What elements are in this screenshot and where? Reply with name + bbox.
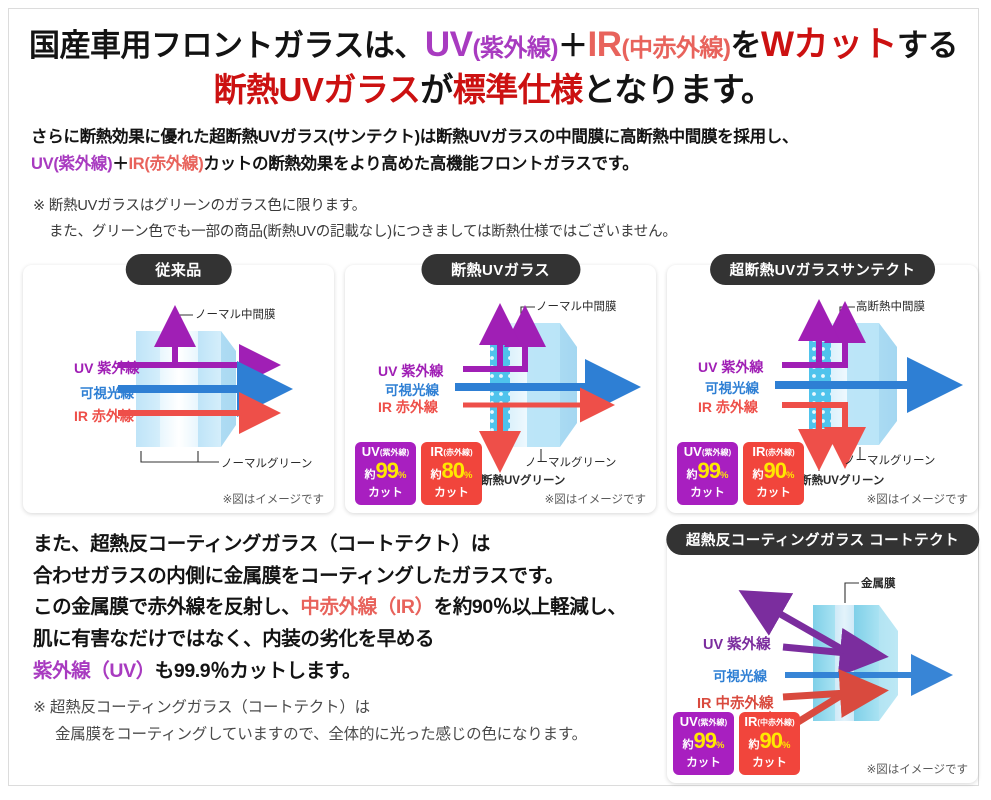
bottom-section: また、超熱反コーティングガラス（コートテクト）は 合わせガラスの内側に金属膜をコ… <box>9 523 978 793</box>
headline-plus: ＋ <box>558 30 588 63</box>
ray-label-ir-mid: IR 中赤外線 <box>697 692 774 713</box>
badge-uv: UV(紫外線) 約99% カット <box>355 442 416 505</box>
page-title: 国産車用フロントガラスは、UV(紫外線)＋IR(中赤外線)をWカットする 断熱U… <box>9 9 978 110</box>
subparagraph-line-2: UV(紫外線)＋IR(赤外線)カットの断熱効果をより高めた高機能フロントガラスで… <box>31 151 956 178</box>
label-normal-green: ノーマルグリーン <box>525 454 616 470</box>
subparagraph-plus: ＋ <box>112 155 128 173</box>
ray-label-ir: IR 赤外線 <box>74 406 134 426</box>
ray-label-uv: UV 紫外線 <box>703 633 771 654</box>
panel-conventional: 従来品 <box>23 265 334 513</box>
headline-ga: が <box>420 71 453 108</box>
headline-wcut: Wカット <box>761 25 897 64</box>
headline-tail: となります。 <box>583 71 774 108</box>
ray-label-visible: 可視光線 <box>80 382 134 402</box>
label-normal-green: ノーマルグリーン <box>221 455 312 471</box>
ray-label-ir: IR 赤外線 <box>378 397 438 417</box>
badge-ir: IR(赤外線) 約80% カット <box>421 442 482 505</box>
coattect-desc-line-2: 合わせガラスの内側に金属膜をコーティングしたガラスです。 <box>33 561 627 593</box>
badge-ir: IR(中赤外線) 約90% カット <box>739 712 800 775</box>
badge-group: UV(紫外線) 約99% カット IR(赤外線) 約80% カット <box>355 442 482 505</box>
headline-uv-paren: (紫外線) <box>473 35 558 62</box>
diagram-conventional: UV 紫外線 可視光線 IR 赤外線 ノーマル中間膜 ノーマルグリーン <box>23 265 334 513</box>
headline-standard: 標準仕様 <box>453 71 583 108</box>
badge-uv-foot: カット <box>673 757 734 770</box>
badge-ir-foot: カット <box>739 757 800 770</box>
coattect-description: また、超熱反コーティングガラス（コートテクト）は 合わせガラスの内側に金属膜をコ… <box>33 529 627 687</box>
top-note: ※ 断熱UVガラスはグリーンのガラス色に限ります。 また、グリーン色でも一部の商… <box>33 194 978 245</box>
label-normal-green: ノーマルグリーン <box>844 452 935 468</box>
ray-label-uv: UV 紫外線 <box>698 357 763 377</box>
top-note-line-1: ※ 断熱UVガラスはグリーンのガラス色に限ります。 <box>33 198 366 214</box>
headline-text-3: する <box>897 28 958 63</box>
headline-text-2: を <box>730 28 761 63</box>
headline-uv: UV <box>425 25 473 64</box>
headline-ir: IR <box>587 25 621 64</box>
subparagraph: さらに断熱効果に優れた超断熱UVガラス(サンテクト)は断熱UVガラスの中間膜に高… <box>31 124 956 178</box>
coattect-uv-highlight: 紫外線（UV） <box>33 660 155 682</box>
headline-line-2: 断熱UVガラスが標準仕様となります。 <box>9 69 978 110</box>
badge-group: UV(紫外線) 約99% カット IR(赤外線) 約90% カット <box>677 442 804 505</box>
headline-product: 断熱UVガラス <box>214 71 421 108</box>
subparagraph-uv: UV(紫外線) <box>31 155 112 173</box>
image-note: ※図はイメージです <box>545 491 646 507</box>
badge-group: UV(紫外線) 約99% カット IR(中赤外線) 約90% カット <box>673 712 800 775</box>
ray-label-visible: 可視光線 <box>713 665 767 685</box>
label-uv-green: 断熱UVグリーン <box>800 472 884 488</box>
badge-ir-foot: カット <box>421 487 482 500</box>
coattect-desc-line-5: 紫外線（UV）も99.9％カットします。 <box>33 656 627 688</box>
coattect-desc-line-3: この金属膜で赤外線を反射し、中赤外線（IR）を約90％以上軽減し、 <box>33 592 627 624</box>
headline-line-1: 国産車用フロントガラスは、UV(紫外線)＋IR(中赤外線)をWカットする <box>9 23 978 67</box>
badge-uv: UV(紫外線) 約99% カット <box>673 712 734 775</box>
image-note: ※図はイメージです <box>867 761 968 777</box>
headline-text-1: 国産車用フロントガラスは、 <box>29 28 425 63</box>
coattect-desc-line-4: 肌に有害なだけではなく、内装の劣化を早める <box>33 624 627 656</box>
badge-uv-value: 約99% <box>355 460 416 487</box>
ray-label-visible: 可視光線 <box>705 377 759 397</box>
ray-label-uv: UV 紫外線 <box>378 361 443 381</box>
infographic-frame: 国産車用フロントガラスは、UV(紫外線)＋IR(中赤外線)をWカットする 断熱U… <box>8 8 979 786</box>
label-interlayer: 高断熱中間膜 <box>856 298 925 314</box>
badge-ir: IR(赤外線) 約90% カット <box>743 442 804 505</box>
subparagraph-rest: カットの断熱効果をより高めた高機能フロントガラスです。 <box>203 155 638 173</box>
ray-label-uv: UV 紫外線 <box>74 358 139 378</box>
top-note-line-2: また、グリーン色でも一部の商品(断熱UVの記載なし)につきましては断熱仕様ではご… <box>33 220 978 245</box>
badge-ir-foot: カット <box>743 487 804 500</box>
badge-uv-foot: カット <box>355 487 416 500</box>
comparison-panels: 従来品 <box>9 257 978 515</box>
label-metal-film: 金属膜 <box>861 575 896 591</box>
badge-uv: UV(紫外線) 約99% カット <box>677 442 738 505</box>
panel-insulated-uv: 断熱UVガラス <box>345 265 656 513</box>
image-note: ※図はイメージです <box>223 491 324 507</box>
panel-coattect: 超熱反コーティングガラス コートテクト <box>667 535 978 783</box>
coattect-desc-line-1: また、超熱反コーティングガラス（コートテクト）は <box>33 529 627 561</box>
badge-ir-value: 約90% <box>743 460 804 487</box>
badge-ir-value: 約90% <box>739 730 800 757</box>
badge-ir-value: 約80% <box>421 460 482 487</box>
bottom-note-line-1: ※ 超熱反コーティングガラス（コートテクト）は <box>33 699 370 716</box>
ray-label-ir: IR 赤外線 <box>698 397 758 417</box>
ray-label-visible: 可視光線 <box>385 379 439 399</box>
headline-ir-paren: (中赤外線) <box>621 35 730 62</box>
badge-uv-value: 約99% <box>677 460 738 487</box>
bottom-note: ※ 超熱反コーティングガラス（コートテクト）は 金属膜をコーティングしていますの… <box>33 695 587 748</box>
label-interlayer: ノーマル中間膜 <box>536 298 617 314</box>
subparagraph-ir: IR(赤外線) <box>129 155 204 173</box>
coattect-ir-highlight: 中赤外線（IR） <box>300 596 433 618</box>
label-uv-green: 断熱UVグリーン <box>481 472 565 488</box>
panel-super-insulated-suntect: 超断熱UVガラスサンテクト <box>667 265 978 513</box>
label-interlayer: ノーマル中間膜 <box>195 306 276 322</box>
badge-uv-value: 約99% <box>673 730 734 757</box>
subparagraph-line-1: さらに断熱効果に優れた超断熱UVガラス(サンテクト)は断熱UVガラスの中間膜に高… <box>31 124 956 151</box>
badge-uv-foot: カット <box>677 487 738 500</box>
bottom-note-line-2: 金属膜をコーティングしていますので、全体的に光った感じの色になります。 <box>33 722 587 749</box>
image-note: ※図はイメージです <box>867 491 968 507</box>
